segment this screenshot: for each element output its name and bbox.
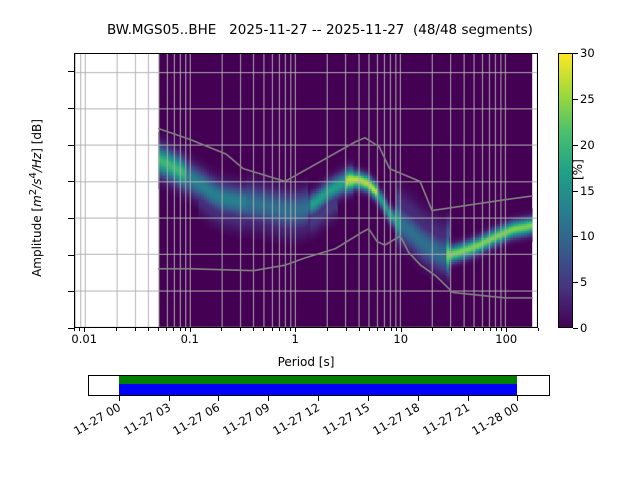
x-minor-tick bbox=[79, 328, 80, 331]
x-minor-tick bbox=[166, 328, 167, 331]
x-minor-tick bbox=[369, 328, 370, 331]
colorbar-tick-mark bbox=[573, 99, 578, 100]
x-tick-label: 100 bbox=[495, 332, 517, 346]
x-minor-tick bbox=[158, 328, 159, 331]
x-minor-tick bbox=[474, 328, 475, 331]
x-minor-tick bbox=[74, 328, 75, 331]
x-minor-tick bbox=[538, 328, 539, 331]
colorbar-tick-label: 15 bbox=[580, 184, 595, 198]
coverage-tick-mark bbox=[268, 396, 269, 401]
x-minor-tick bbox=[483, 328, 484, 331]
colorbar-tick-label: 10 bbox=[580, 229, 595, 243]
y-axis-label: Amplitude [m2/s4/Hz] [dB] bbox=[28, 58, 44, 338]
x-minor-tick bbox=[185, 328, 186, 331]
x-minor-tick bbox=[451, 328, 452, 331]
coverage-segment-green bbox=[119, 376, 517, 384]
coverage-tick-label: 11-27 21 bbox=[420, 400, 472, 438]
coverage-tick-mark bbox=[517, 396, 518, 401]
colorbar-label: [%] bbox=[571, 120, 585, 180]
x-minor-tick bbox=[391, 328, 392, 331]
colorbar-tick-mark bbox=[573, 236, 578, 237]
ppsd-figure: BW.MGS05..BHE 2025-11-27 -- 2025-11-27 (… bbox=[0, 0, 640, 480]
x-minor-tick bbox=[377, 328, 378, 331]
y-tick-mark bbox=[68, 71, 74, 72]
coverage-tick-label: 11-27 15 bbox=[320, 400, 372, 438]
coverage-tick-mark bbox=[368, 396, 369, 401]
x-minor-tick bbox=[327, 328, 328, 331]
x-tick-label: 0.1 bbox=[181, 332, 199, 346]
x-minor-tick bbox=[148, 328, 149, 331]
x-minor-tick bbox=[346, 328, 347, 331]
y-tick-mark bbox=[68, 255, 74, 256]
x-minor-tick bbox=[135, 328, 136, 331]
x-minor-tick bbox=[285, 328, 286, 331]
coverage-tick-mark bbox=[119, 396, 120, 401]
coverage-segment-blue bbox=[119, 384, 517, 395]
data-coverage-bar[interactable] bbox=[88, 375, 550, 396]
colorbar-tick-label: 0 bbox=[580, 321, 587, 335]
coverage-tick-label: 11-27 12 bbox=[270, 400, 322, 438]
coverage-tick-mark bbox=[218, 396, 219, 401]
ppsd-plot-area[interactable] bbox=[74, 53, 538, 328]
coverage-tick-mark bbox=[418, 396, 419, 401]
colorbar-tick-mark bbox=[573, 191, 578, 192]
x-minor-tick bbox=[384, 328, 385, 331]
x-minor-tick bbox=[263, 328, 264, 331]
x-minor-tick bbox=[501, 328, 502, 331]
x-minor-tick bbox=[221, 328, 222, 331]
coverage-tick-label: 11-27 18 bbox=[370, 400, 422, 438]
x-minor-tick bbox=[464, 328, 465, 331]
colorbar-tick-label: 5 bbox=[580, 275, 587, 289]
y-tick-mark bbox=[68, 181, 74, 182]
y-tick-mark bbox=[68, 218, 74, 219]
x-minor-tick bbox=[496, 328, 497, 331]
y-tick-mark bbox=[68, 291, 74, 292]
colorbar-tick-mark bbox=[573, 328, 578, 329]
colorbar-tick-label: 30 bbox=[580, 46, 595, 60]
y-tick-mark bbox=[68, 145, 74, 146]
coverage-fill bbox=[119, 376, 517, 395]
coverage-tick-label: 11-28 00 bbox=[470, 400, 522, 438]
x-minor-tick bbox=[432, 328, 433, 331]
x-minor-tick bbox=[359, 328, 360, 331]
y-tick-mark bbox=[68, 108, 74, 109]
ppsd-histogram-canvas bbox=[75, 54, 537, 327]
colorbar[interactable] bbox=[558, 53, 573, 328]
coverage-tick-label: 11-27 06 bbox=[171, 400, 223, 438]
x-axis-label: Period [s] bbox=[74, 355, 538, 369]
x-minor-tick bbox=[290, 328, 291, 331]
coverage-tick-mark bbox=[169, 396, 170, 401]
x-minor-tick bbox=[180, 328, 181, 331]
x-minor-tick bbox=[253, 328, 254, 331]
colorbar-tick-mark bbox=[573, 282, 578, 283]
x-minor-tick bbox=[272, 328, 273, 331]
coverage-tick-label: 11-27 00 bbox=[71, 400, 123, 438]
x-tick-label: 10 bbox=[393, 332, 408, 346]
x-minor-tick bbox=[490, 328, 491, 331]
x-minor-tick bbox=[240, 328, 241, 331]
coverage-tick-label: 11-27 09 bbox=[221, 400, 273, 438]
colorbar-tick-mark bbox=[573, 53, 578, 54]
colorbar-gradient bbox=[559, 54, 572, 327]
x-minor-tick bbox=[396, 328, 397, 331]
x-minor-tick bbox=[173, 328, 174, 331]
colorbar-tick-label: 25 bbox=[580, 92, 595, 106]
page-title: BW.MGS05..BHE 2025-11-27 -- 2025-11-27 (… bbox=[0, 22, 640, 38]
coverage-tick-label: 11-27 03 bbox=[121, 400, 173, 438]
x-minor-tick bbox=[116, 328, 117, 331]
x-minor-tick bbox=[279, 328, 280, 331]
x-tick-label: 1 bbox=[292, 332, 299, 346]
x-tick-label: 0.01 bbox=[71, 332, 97, 346]
coverage-tick-mark bbox=[468, 396, 469, 401]
coverage-tick-mark bbox=[318, 396, 319, 401]
